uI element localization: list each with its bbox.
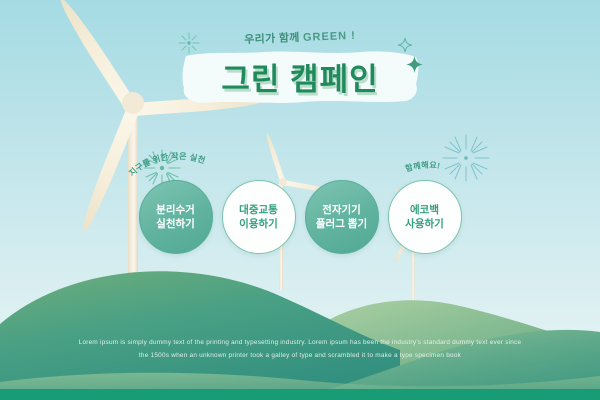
campaign-item-4[interactable]: 함께해요! 에코백 사용하기 xyxy=(388,180,462,254)
campaign-item-3[interactable]: 전자기기 플러그 뽑기 xyxy=(305,180,379,254)
turbine-hub xyxy=(122,92,144,114)
four-point-star-icon xyxy=(398,38,412,57)
campaign-line-2: 이용하기 xyxy=(239,217,278,231)
campaign-line-2: 사용하기 xyxy=(405,217,444,231)
bottom-accent-bar xyxy=(0,389,600,400)
campaign-circle[interactable]: 전자기기 플러그 뽑기 xyxy=(305,180,379,254)
campaign-circle[interactable]: 분리수거 실천하기 xyxy=(139,180,213,254)
campaign-action-list: 지구를 위한 작은 실천 분리수거 실천하기 대중교통 이용하기 전자기기 플러… xyxy=(0,180,600,254)
subtitle-korean: 우리가 함께 xyxy=(244,32,303,46)
turbine-blade xyxy=(265,132,286,183)
title-banner: 그린 캠페인 xyxy=(178,50,422,104)
campaign-line-2: 실천하기 xyxy=(156,217,195,231)
four-point-star-icon xyxy=(406,56,423,78)
campaign-line-1: 분리수거 xyxy=(156,203,195,217)
campaign-line-1: 대중교통 xyxy=(239,203,278,217)
page-title: 그린 캠페인 xyxy=(178,50,422,104)
footer-line-2: the 1500s when an unknown printer took a… xyxy=(70,349,530,362)
campaign-item-2[interactable]: 대중교통 이용하기 xyxy=(222,180,296,254)
campaign-line-1: 전자기기 xyxy=(322,203,361,217)
campaign-line-2: 플러그 뽑기 xyxy=(316,217,367,231)
footer-paragraph: Lorem ipsum is simply dummy text of the … xyxy=(0,336,600,362)
campaign-circle[interactable]: 에코백 사용하기 xyxy=(388,180,462,254)
subtitle-english: GREEN ! xyxy=(303,30,356,44)
footer-line-1: Lorem ipsum is simply dummy text of the … xyxy=(70,336,530,349)
campaign-item-1[interactable]: 지구를 위한 작은 실천 분리수거 실천하기 xyxy=(139,180,213,254)
campaign-line-1: 에코백 xyxy=(410,203,439,217)
poster-canvas: 우리가 함께 GREEN ! 그린 캠페인 지구를 위한 작은 실천 분리수거 … xyxy=(0,0,600,400)
campaign-circle[interactable]: 대중교통 이용하기 xyxy=(222,180,296,254)
